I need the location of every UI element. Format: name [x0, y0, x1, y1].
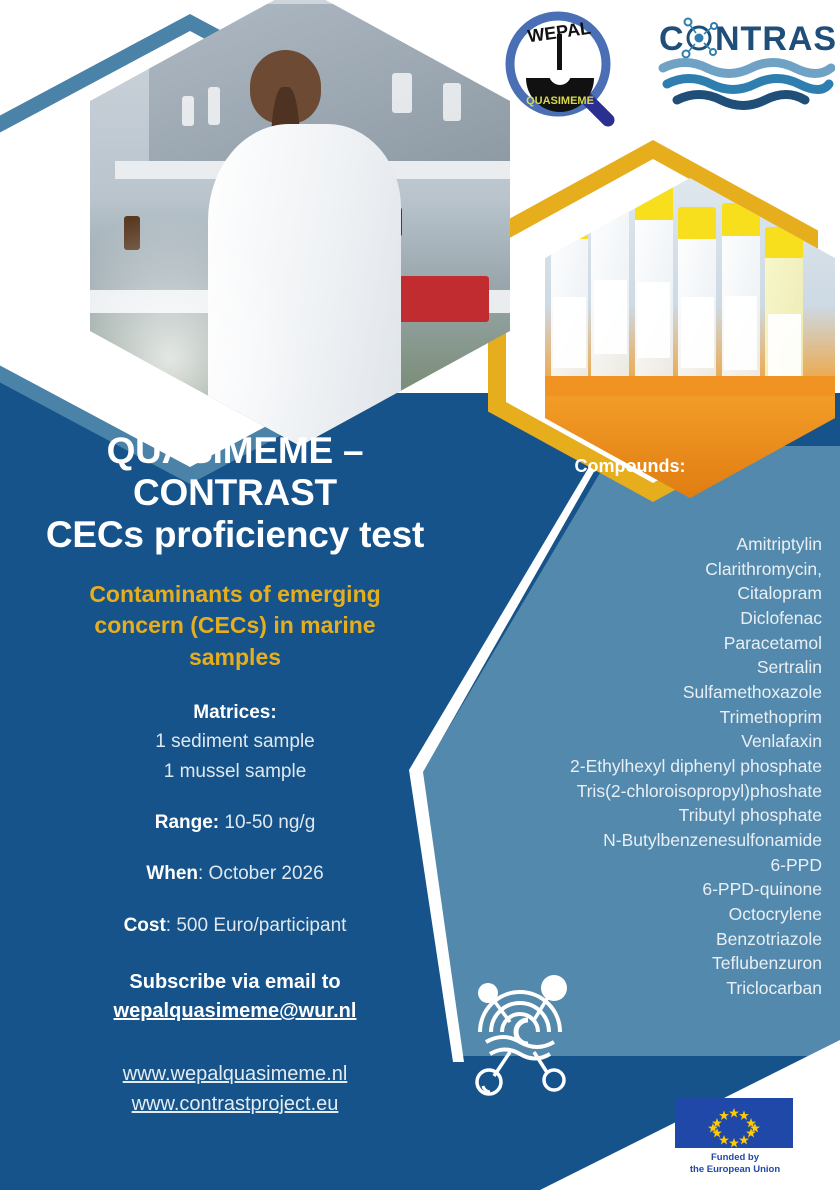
- cost-row: Cost: 500 Euro/participant: [0, 911, 470, 940]
- matrices-value-2: 1 mussel sample: [0, 757, 470, 786]
- subscribe-email-link[interactable]: wepalquasimeme@wur.nl: [114, 1000, 357, 1022]
- website-links: www.wepalquasimeme.nl www.contrastprojec…: [0, 1060, 470, 1119]
- compound-item: Clarithromycin,: [440, 557, 822, 582]
- compounds-heading: Compounds:: [430, 456, 830, 477]
- range-value: 10-50 ng/g: [224, 812, 315, 833]
- compound-item: Trimethoprim: [440, 705, 822, 730]
- compound-item: Tributyl phosphate: [440, 803, 822, 828]
- compound-item: Paracetamol: [440, 631, 822, 656]
- compound-item: Sertralin: [440, 655, 822, 680]
- title-line-3: CECs proficiency test: [8, 514, 462, 556]
- subscribe-block: Subscribe via email to wepalquasimeme@wu…: [0, 968, 470, 1026]
- when-row: When: October 2026: [0, 859, 470, 888]
- compound-item: Sulfamethoxazole: [440, 680, 822, 705]
- cost-value: : 500 Euro/participant: [166, 915, 347, 936]
- page-title: QUASIMEME – CONTRAST CECs proficiency te…: [0, 430, 470, 557]
- matrices-label: Matrices:: [0, 698, 470, 727]
- poster-root: WEPAL QUASIMEME C NTRAST QUASIMEME – CON…: [0, 0, 840, 1190]
- compound-item: N-Butylbenzenesulfonamide: [440, 828, 822, 853]
- matrices-value-1: 1 sediment sample: [0, 727, 470, 756]
- website-link-contrast[interactable]: www.contrastproject.eu: [132, 1093, 339, 1115]
- when-value: : October 2026: [198, 863, 324, 884]
- range-label: Range:: [155, 812, 219, 833]
- compounds-list: Amitriptylin Clarithromycin, Citalopram …: [440, 532, 830, 1001]
- compound-item: Octocrylene: [440, 902, 822, 927]
- eu-caption-line-1: Funded by: [675, 1152, 795, 1164]
- eu-caption-line-2: the European Union: [675, 1164, 795, 1176]
- compound-item: Benzotriazole: [440, 927, 822, 952]
- cost-label: Cost: [124, 915, 166, 936]
- details-block: Matrices: 1 sediment sample 1 mussel sam…: [0, 698, 470, 941]
- compound-item: 2-Ethylhexyl diphenyl phosphate: [440, 754, 822, 779]
- contrast-logo: C NTRAST: [655, 16, 835, 121]
- wepal-quasimeme-logo: WEPAL QUASIMEME: [500, 8, 630, 138]
- eu-funding-caption: Funded by the European Union: [675, 1152, 795, 1176]
- subscribe-label: Subscribe via email to: [0, 968, 470, 997]
- contrast-molecule-icon: [450, 960, 590, 1100]
- compound-item: Diclofenac: [440, 606, 822, 631]
- main-text-column: QUASIMEME – CONTRAST CECs proficiency te…: [0, 430, 470, 1120]
- svg-text:NTRAST: NTRAST: [715, 20, 835, 58]
- compound-item: 6-PPD-quinone: [440, 877, 822, 902]
- website-link-wepal[interactable]: www.wepalquasimeme.nl: [123, 1063, 348, 1085]
- svg-text:C: C: [659, 20, 685, 58]
- compound-item: Amitriptylin: [440, 532, 822, 557]
- eu-funding-badge: Funded by the European Union: [675, 1098, 795, 1180]
- eu-flag-icon: [675, 1098, 793, 1148]
- page-subtitle: Contaminants of emerging concern (CECs) …: [0, 579, 470, 674]
- range-row: Range: 10-50 ng/g: [0, 808, 470, 837]
- compound-item: Tris(2-chloroisopropyl)phoshate: [440, 779, 822, 804]
- compound-item: Venlafaxin: [440, 729, 822, 754]
- svg-text:QUASIMEME: QUASIMEME: [526, 95, 594, 107]
- title-line-2: CONTRAST: [8, 472, 462, 514]
- compound-item: 6-PPD: [440, 853, 822, 878]
- compound-item: Citalopram: [440, 581, 822, 606]
- when-label: When: [146, 863, 198, 884]
- title-line-1: QUASIMEME –: [8, 430, 462, 472]
